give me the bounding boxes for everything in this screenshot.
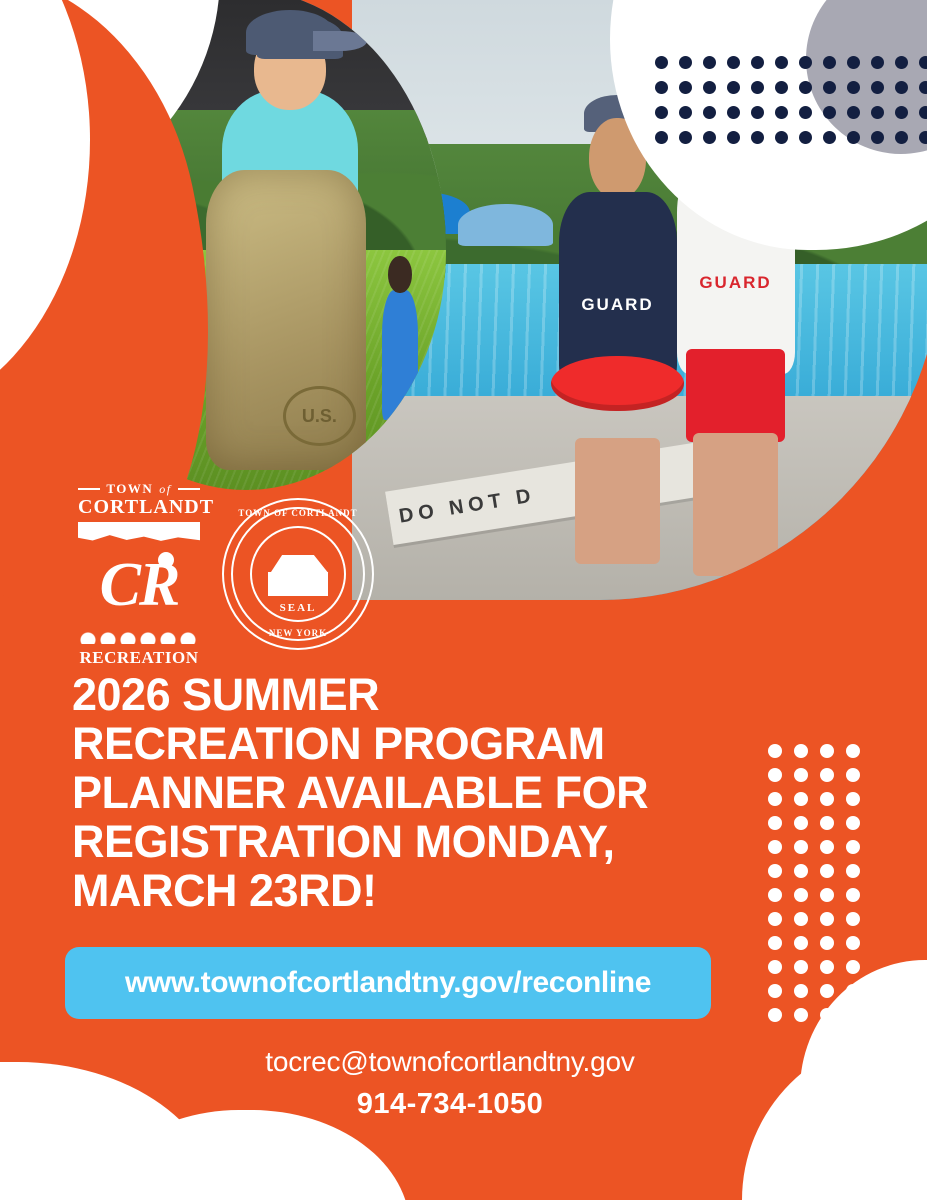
dot: [679, 81, 692, 94]
dot: [799, 131, 812, 144]
white-dot-grid: [768, 744, 872, 1032]
dot: [847, 81, 860, 94]
dot: [846, 816, 860, 830]
dot: [820, 840, 834, 854]
dot: [799, 56, 812, 69]
dot: [703, 106, 716, 119]
dot: [768, 792, 782, 806]
dot: [727, 106, 740, 119]
dot: [823, 131, 836, 144]
dot: [655, 56, 668, 69]
dot: [768, 864, 782, 878]
rule-left: [78, 488, 100, 490]
dot: [846, 840, 860, 854]
dot: [768, 1008, 782, 1022]
headline-line-2: RECREATION PROGRAM: [72, 719, 732, 768]
dot: [768, 888, 782, 902]
headline-line-1: 2026 SUMMER: [72, 670, 732, 719]
dot: [794, 864, 808, 878]
dot: [768, 744, 782, 758]
dot: [895, 106, 908, 119]
navy-dot-grid: [655, 56, 927, 156]
dot: [847, 131, 860, 144]
logo-of-text: of: [159, 483, 171, 495]
contact-phone[interactable]: 914-734-1050: [0, 1087, 900, 1122]
dot: [895, 131, 908, 144]
headline: 2026 SUMMERRECREATION PROGRAMPLANNER AVA…: [72, 670, 732, 915]
dot: [919, 56, 927, 69]
contact-block: tocrec@townofcortlandtny.gov 914-734-105…: [0, 1045, 900, 1121]
dot: [655, 131, 668, 144]
dot: [820, 864, 834, 878]
dot: [846, 792, 860, 806]
dot: [794, 912, 808, 926]
contact-email[interactable]: tocrec@townofcortlandtny.gov: [0, 1045, 900, 1079]
dot: [727, 81, 740, 94]
dot: [768, 984, 782, 998]
dot: [794, 984, 808, 998]
dot: [895, 81, 908, 94]
headline-line-4: REGISTRATION MONDAY,: [72, 817, 732, 866]
dot: [847, 56, 860, 69]
logo-town-of-line: TOWN of: [78, 482, 200, 495]
dot: [794, 744, 808, 758]
dot: [679, 56, 692, 69]
dot: [727, 131, 740, 144]
lifeguard-left: GUARD: [559, 192, 677, 564]
logo-mountain-graphic: [78, 522, 200, 544]
cortlandt-recreation-logo: TOWN of CORTLANDT CR RECREATION: [78, 482, 200, 666]
dot: [655, 106, 668, 119]
dot: [799, 106, 812, 119]
cr-monogram-dot: [158, 552, 174, 568]
dot: [679, 131, 692, 144]
burlap-sack: U.S.: [206, 170, 366, 470]
white-blob-bottom-strip: [0, 1175, 360, 1200]
legs: [693, 433, 778, 576]
bystander: [382, 290, 418, 420]
dot: [846, 864, 860, 878]
seal-bottom-text: NEW YORK: [224, 629, 372, 638]
seal-center-text: SEAL: [224, 603, 372, 614]
dot: [751, 56, 764, 69]
dot: [820, 792, 834, 806]
dot: [823, 106, 836, 119]
dot: [751, 106, 764, 119]
dot: [799, 81, 812, 94]
dot: [703, 81, 716, 94]
dot: [820, 768, 834, 782]
headline-line-5: MARCH 23RD!: [72, 866, 732, 915]
logo-cortlandt-text: CORTLANDT: [78, 497, 200, 518]
dot: [679, 106, 692, 119]
dot: [820, 936, 834, 950]
seal-house-icon: [265, 554, 331, 596]
town-seal-logo: TOWN OF CORTLANDT SEAL NEW YORK: [222, 498, 374, 650]
logo-waves-graphic: [78, 626, 200, 644]
dot: [775, 56, 788, 69]
dot: [823, 81, 836, 94]
dot: [820, 960, 834, 974]
dot: [794, 936, 808, 950]
rescue-tube: [551, 356, 683, 412]
rule-right: [178, 488, 200, 490]
dot: [768, 960, 782, 974]
dot: [846, 960, 860, 974]
dot: [820, 888, 834, 902]
child-cap-icon: [246, 10, 334, 55]
seal-top-text: TOWN OF CORTLANDT: [224, 509, 372, 518]
dot: [768, 768, 782, 782]
dot: [847, 106, 860, 119]
dot: [846, 936, 860, 950]
logo-town-text: TOWN: [106, 482, 153, 495]
shorts: [686, 349, 785, 441]
dot: [775, 81, 788, 94]
logo-row: TOWN of CORTLANDT CR RECREATION TOWN OF …: [78, 482, 374, 666]
dot: [846, 768, 860, 782]
dot: [846, 888, 860, 902]
dot: [751, 81, 764, 94]
dot: [794, 816, 808, 830]
dot: [775, 131, 788, 144]
guard-text-right: GUARD: [677, 274, 795, 291]
dot: [794, 840, 808, 854]
dot: [820, 1008, 834, 1022]
dot: [703, 131, 716, 144]
dot: [846, 984, 860, 998]
dot: [871, 56, 884, 69]
dot: [768, 816, 782, 830]
dot: [871, 131, 884, 144]
logo-cr-monogram: CR: [78, 546, 200, 624]
dot: [727, 56, 740, 69]
poster-canvas: DO NOT D GUARD GUARD: [0, 0, 927, 1200]
sack-logo-text: U.S.: [283, 386, 356, 446]
dot: [768, 936, 782, 950]
dot: [871, 106, 884, 119]
dot: [919, 131, 927, 144]
dot: [846, 912, 860, 926]
dot: [846, 1008, 860, 1022]
dot: [794, 1008, 808, 1022]
dot: [794, 888, 808, 902]
dot: [703, 56, 716, 69]
umbrella-icon: [458, 204, 552, 246]
dot: [919, 106, 927, 119]
dot: [871, 81, 884, 94]
logo-recreation-text: RECREATION: [78, 649, 200, 666]
dot: [751, 131, 764, 144]
dot: [820, 744, 834, 758]
dot: [768, 912, 782, 926]
registration-url-button[interactable]: www.townofcortlandtny.gov/reconline: [65, 947, 711, 1019]
dot: [794, 960, 808, 974]
legs: [575, 438, 660, 564]
guard-text-left: GUARD: [559, 296, 677, 313]
dot: [794, 768, 808, 782]
dot: [919, 81, 927, 94]
dot: [655, 81, 668, 94]
headline-line-3: PLANNER AVAILABLE FOR: [72, 768, 732, 817]
dot: [768, 840, 782, 854]
dot: [775, 106, 788, 119]
dot: [823, 56, 836, 69]
dot: [820, 912, 834, 926]
dot: [820, 816, 834, 830]
dot: [895, 56, 908, 69]
dot: [820, 984, 834, 998]
dot: [846, 744, 860, 758]
dot: [794, 792, 808, 806]
